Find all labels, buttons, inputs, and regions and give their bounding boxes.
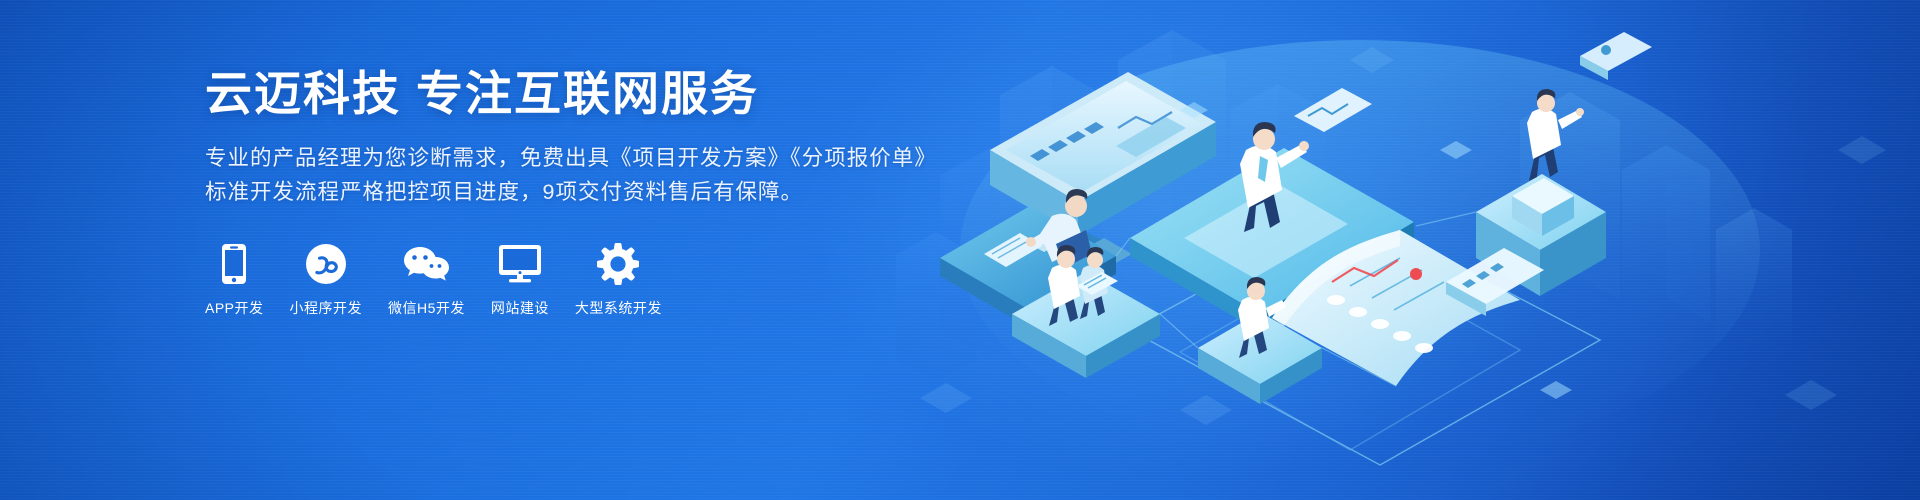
wechat-icon [402, 243, 450, 285]
hero-banner: 云迈科技 专注互联网服务 专业的产品经理为您诊断需求，免费出具《项目开发方案》《… [0, 0, 1920, 500]
page-title: 云迈科技 专注互联网服务 [205, 66, 1105, 121]
service-label-website: 网站建设 [491, 298, 549, 318]
floating-tag [1580, 32, 1652, 80]
service-label-wechat: 微信H5开发 [388, 298, 465, 318]
subtitle-line-2: 标准开发流程严格把控项目进度，9项交付资料售后有保障。 [205, 175, 1105, 209]
subtitle-block: 专业的产品经理为您诊断需求，免费出具《项目开发方案》《分项报价单》 标准开发流程… [205, 141, 1105, 209]
service-item-system[interactable]: 大型系统开发 [575, 243, 662, 318]
service-item-wechat[interactable]: 微信H5开发 [388, 243, 465, 318]
service-label-app: APP开发 [205, 298, 264, 318]
gear-icon [597, 243, 639, 285]
service-item-app[interactable]: APP开发 [205, 243, 264, 318]
service-label-miniprogram: 小程序开发 [290, 298, 363, 318]
service-item-miniprogram[interactable]: 小程序开发 [290, 243, 363, 318]
mini-program-icon [305, 243, 347, 285]
mobile-phone-icon [221, 243, 247, 285]
service-label-system: 大型系统开发 [575, 298, 662, 318]
desktop-monitor-icon [498, 243, 542, 285]
banner-copy: 云迈科技 专注互联网服务 专业的产品经理为您诊断需求，免费出具《项目开发方案》《… [205, 66, 1105, 318]
service-item-website[interactable]: 网站建设 [491, 243, 549, 318]
service-list: APP开发 小程序开发 [205, 243, 1105, 318]
subtitle-line-1: 专业的产品经理为您诊断需求，免费出具《项目开发方案》《分项报价单》 [205, 141, 1105, 175]
